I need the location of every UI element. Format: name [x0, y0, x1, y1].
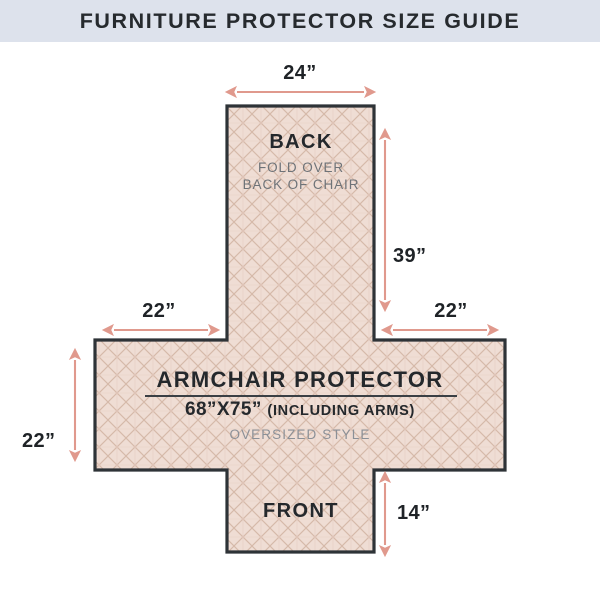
dimension-label-body-height: 22” [22, 430, 55, 453]
header-band: FURNITURE PROTECTOR SIZE GUIDE [0, 0, 600, 42]
back-panel-subtitle-line1: FOLD OVER [258, 160, 344, 175]
dimension-label-back-height: 39” [393, 245, 426, 268]
body-panel-size-value: 68”X75” [185, 399, 262, 420]
back-panel-subtitle: FOLD OVER BACK OF CHAIR [217, 159, 385, 193]
front-panel-title: FRONT [227, 500, 375, 523]
body-panel-size-note: (INCLUDING ARMS) [267, 403, 415, 419]
back-panel-subtitle-line2: BACK OF CHAIR [243, 177, 360, 192]
dimension-label-back-width: 24” [0, 62, 600, 85]
dimension-label-arm-right: 22” [405, 300, 497, 323]
dimension-label-front-height: 14” [397, 502, 430, 525]
body-panel-style-note: OVERSIZED STYLE [95, 427, 505, 442]
back-panel-title: BACK [227, 131, 375, 154]
body-panel-size: 68”X75” (INCLUDING ARMS) [95, 399, 505, 421]
title-underline-rule [145, 395, 457, 397]
body-panel-title: ARMCHAIR PROTECTOR [95, 367, 505, 393]
dimension-label-arm-left: 22” [113, 300, 205, 323]
page-title: FURNITURE PROTECTOR SIZE GUIDE [80, 9, 521, 34]
diagram-stage: BACK FOLD OVER BACK OF CHAIR ARMCHAIR PR… [0, 42, 600, 600]
